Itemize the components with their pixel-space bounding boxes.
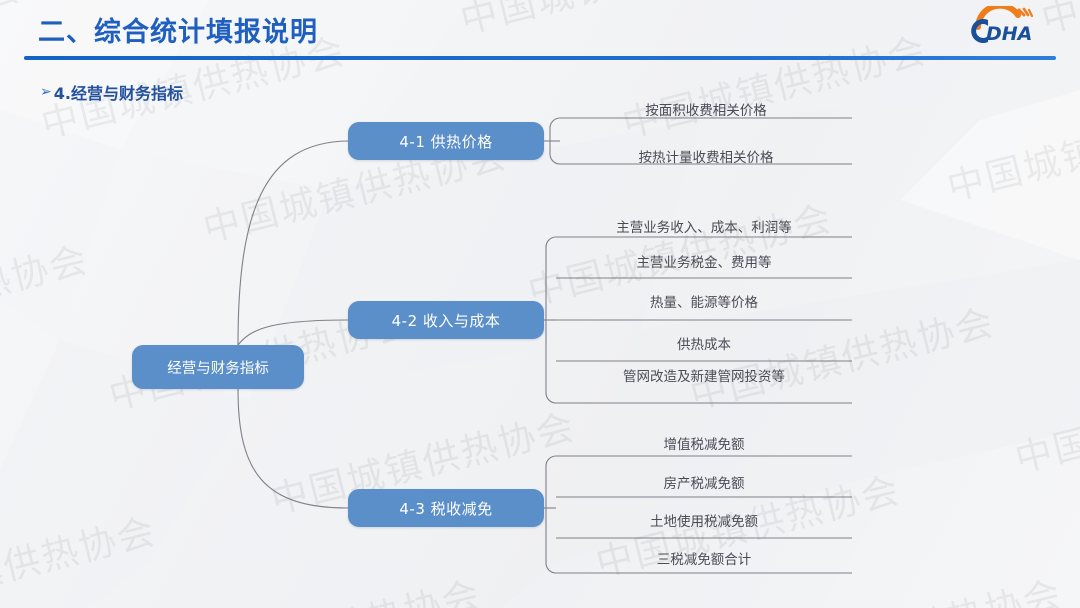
leaf-item[interactable]: 房产税减免额 <box>556 472 852 492</box>
connector-root-to-4-1 <box>238 141 348 345</box>
connector-root-to-4-2 <box>238 320 348 345</box>
node-group-4-3-label: 4-3 税收减免 <box>399 498 492 519</box>
node-group-4-1[interactable]: 4-1 供热价格 <box>348 122 544 160</box>
leaf-item[interactable]: 主营业务税金、费用等 <box>556 251 852 271</box>
slide-canvas: 中国城镇供热协会 中国城镇供热协会 中国城镇供热协会 中国城镇供热协会 中国城镇… <box>0 0 1080 608</box>
leaf-item[interactable]: 供热成本 <box>556 333 852 353</box>
mindmap-diagram: 经营与财务指标 4-1 供热价格 4-2 收入与成本 4-3 税收减免 按面积收… <box>0 0 1080 608</box>
node-group-4-1-label: 4-1 供热价格 <box>399 131 492 152</box>
leaf-item[interactable]: 主营业务收入、成本、利润等 <box>556 216 852 236</box>
node-group-4-2[interactable]: 4-2 收入与成本 <box>348 301 544 339</box>
leaf-item[interactable]: 管网改造及新建管网投资等 <box>556 365 852 385</box>
connector-root-to-4-3 <box>238 389 348 508</box>
leaf-item[interactable]: 土地使用税减免额 <box>556 510 852 530</box>
node-group-4-3[interactable]: 4-3 税收减免 <box>348 489 544 527</box>
leaf-item[interactable]: 三税减免额合计 <box>556 548 852 568</box>
leaf-item[interactable]: 按热计量收费相关价格 <box>560 146 852 166</box>
leaf-item[interactable]: 热量、能源等价格 <box>556 291 852 311</box>
node-group-4-2-label: 4-2 收入与成本 <box>392 310 501 331</box>
leaf-item[interactable]: 按面积收费相关价格 <box>560 99 852 119</box>
node-root[interactable]: 经营与财务指标 <box>132 345 304 389</box>
node-root-label: 经营与财务指标 <box>167 357 269 378</box>
leaf-item[interactable]: 增值税减免额 <box>556 433 852 453</box>
